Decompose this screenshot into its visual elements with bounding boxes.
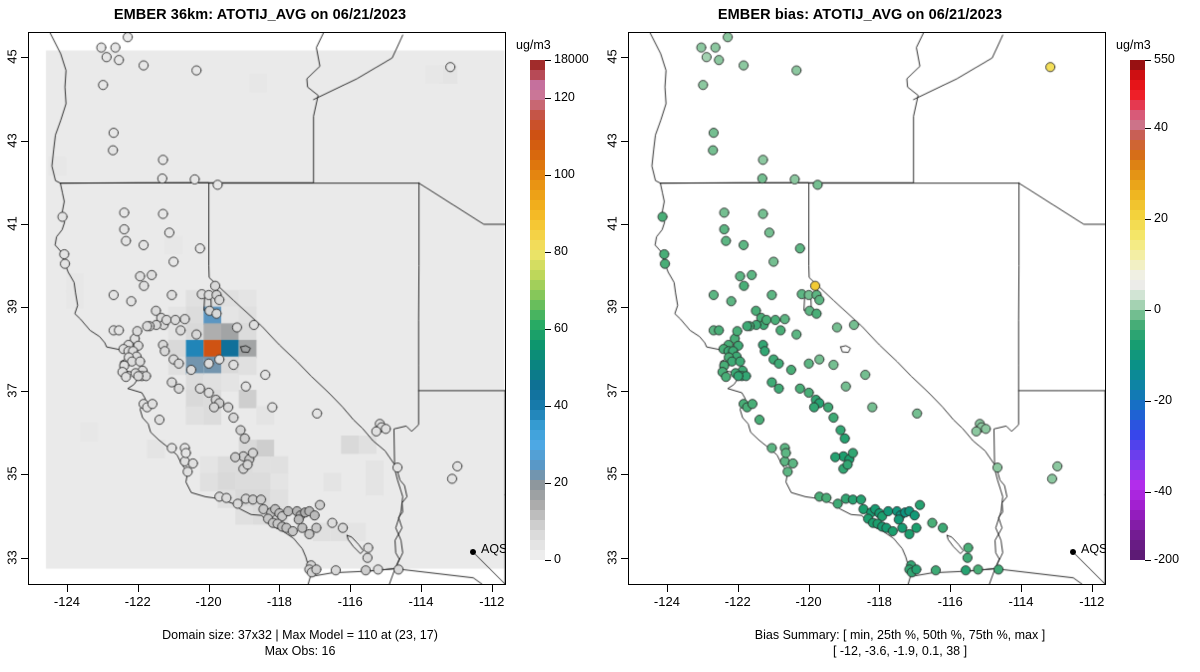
colorbar-segment: [530, 150, 545, 160]
y-tick-label: 37: [605, 380, 620, 400]
colorbar-segment: [1130, 500, 1145, 510]
colorbar-tick-label: 40: [1154, 120, 1168, 134]
colorbar-segment: [1130, 440, 1145, 450]
y-tick-label: 33: [5, 547, 20, 567]
x-tick: [209, 585, 210, 592]
colorbar-segment: [530, 350, 545, 360]
y-tick: [21, 224, 28, 225]
colorbar-segment: [1130, 290, 1145, 300]
x-tick-label: -112: [470, 594, 514, 609]
colorbar-segment: [1130, 230, 1145, 240]
colorbar-segment: [530, 520, 545, 530]
x-tick: [350, 585, 351, 592]
colorbar-segment: [1130, 420, 1145, 430]
x-tick-label: -116: [328, 594, 372, 609]
colorbar-segment: [530, 210, 545, 220]
colorbar-segment: [1130, 240, 1145, 250]
colorbar-segment: [530, 320, 545, 330]
y-tick: [21, 558, 28, 559]
colorbar-segment: [530, 470, 545, 480]
bias-caption-line1: Bias Summary: [ min, 25th %, 50th %, 75t…: [620, 628, 1180, 643]
colorbar-tick: [1145, 310, 1151, 311]
colorbar-gradient[interactable]: [1130, 60, 1145, 560]
colorbar-segment: [1130, 180, 1145, 190]
colorbar-segment: [530, 170, 545, 180]
colorbar-segment: [530, 180, 545, 190]
colorbar-tick: [545, 406, 551, 407]
colorbar-tick-label: 550: [1154, 52, 1175, 66]
colorbar-segment: [530, 510, 545, 520]
colorbar-segment: [530, 110, 545, 120]
colorbar-segment: [1130, 160, 1145, 170]
y-tick: [621, 57, 628, 58]
colorbar-segment: [1130, 540, 1145, 550]
colorbar-segment: [1130, 300, 1145, 310]
y-tick-label: 45: [605, 47, 620, 67]
colorbar-segment: [1130, 520, 1145, 530]
x-tick-label: -114: [399, 594, 443, 609]
x-tick: [138, 585, 139, 592]
x-tick-label: -118: [857, 594, 901, 609]
y-tick-label: 43: [605, 130, 620, 150]
page-title: EMBER 36km: ATOTIJ_AVG on 06/21/2023: [0, 7, 520, 23]
colorbar-segment: [1130, 370, 1145, 380]
panel-bias: EMBER bias: ATOTIJ_AVG on 06/21/2023 AQS…: [600, 0, 1200, 672]
colorbar-segment: [1130, 550, 1145, 560]
colorbar-tick-label: -20: [1154, 393, 1172, 407]
colorbar-segment: [1130, 460, 1145, 470]
x-tick: [667, 585, 668, 592]
colorbar-segment: [1130, 380, 1145, 390]
y-tick: [621, 224, 628, 225]
colorbar-segment: [530, 480, 545, 490]
x-tick: [421, 585, 422, 592]
bias-plot-area[interactable]: AQS: [628, 32, 1106, 585]
colorbar-segment: [1130, 490, 1145, 500]
colorbar-segment: [1130, 430, 1145, 440]
colorbar-segment: [530, 420, 545, 430]
colorbar-segment: [1130, 330, 1145, 340]
y-tick-label: 35: [605, 464, 620, 484]
colorbar-segment: [1130, 200, 1145, 210]
colorbar-tick-label: 60: [554, 321, 568, 335]
colorbar-tick-label: 0: [554, 552, 561, 566]
colorbar-segment: [1130, 120, 1145, 130]
x-tick-label: -120: [787, 594, 831, 609]
colorbar-segment: [1130, 470, 1145, 480]
x-tick: [738, 585, 739, 592]
colorbar-tick-label: 100: [554, 167, 575, 181]
colorbar-tick: [545, 98, 551, 99]
model-colorbar[interactable]: ug/m318000120100806040200: [516, 0, 600, 672]
y-tick-label: 43: [5, 130, 20, 150]
colorbar-segment: [530, 500, 545, 510]
colorbar-segment: [530, 290, 545, 300]
colorbar-segment: [530, 60, 545, 70]
y-tick: [621, 558, 628, 559]
panel-model: EMBER 36km: ATOTIJ_AVG on 06/21/2023 AQS…: [0, 0, 600, 672]
y-tick: [21, 474, 28, 475]
colorbar-tick-label: -200: [1154, 552, 1179, 566]
colorbar-segment: [530, 250, 545, 260]
aqs-legend-dot: [470, 549, 476, 555]
colorbar-tick: [1145, 219, 1151, 220]
y-tick: [21, 391, 28, 392]
colorbar-segment: [530, 70, 545, 80]
bias-map-canvas[interactable]: [629, 33, 1105, 584]
y-tick-label: 45: [5, 47, 20, 67]
y-tick: [21, 141, 28, 142]
colorbar-tick: [1145, 492, 1151, 493]
colorbar-tick: [1145, 128, 1151, 129]
colorbar-segment: [530, 220, 545, 230]
colorbar-segment: [530, 260, 545, 270]
colorbar-segment: [530, 360, 545, 370]
colorbar-tick: [545, 60, 551, 61]
colorbar-segment: [1130, 220, 1145, 230]
colorbar-segment: [530, 380, 545, 390]
colorbar-units-label: ug/m3: [1116, 38, 1151, 52]
colorbar-segment: [1130, 110, 1145, 120]
colorbar-segment: [530, 240, 545, 250]
y-tick-label: 39: [605, 297, 620, 317]
colorbar-segment: [530, 230, 545, 240]
colorbar-segment: [1130, 410, 1145, 420]
colorbar-segment: [530, 460, 545, 470]
colorbar-segment: [1130, 250, 1145, 260]
model-plot-area[interactable]: AQS: [28, 32, 506, 585]
page-title-bias: EMBER bias: ATOTIJ_AVG on 06/21/2023: [600, 7, 1120, 23]
colorbar-segment: [530, 490, 545, 500]
colorbar-segment: [1130, 60, 1145, 70]
aqs-legend-dot-bias: [1070, 549, 1076, 555]
colorbar-segment: [1130, 260, 1145, 270]
x-tick-label: -124: [645, 594, 689, 609]
x-tick: [809, 585, 810, 592]
x-tick-label: -116: [928, 594, 972, 609]
colorbar-segment: [1130, 530, 1145, 540]
colorbar-segment: [530, 330, 545, 340]
colorbar-segment: [530, 200, 545, 210]
y-tick: [621, 474, 628, 475]
colorbar-segment: [1130, 100, 1145, 110]
x-tick: [279, 585, 280, 592]
colorbar-segment: [530, 310, 545, 320]
colorbar-segment: [530, 550, 545, 560]
colorbar-segment: [530, 160, 545, 170]
colorbar-segment: [1130, 190, 1145, 200]
colorbar-segment: [1130, 150, 1145, 160]
colorbar-segment: [530, 430, 545, 440]
x-tick: [879, 585, 880, 592]
x-tick-label: -122: [716, 594, 760, 609]
y-tick-label: 33: [605, 547, 620, 567]
x-tick: [67, 585, 68, 592]
colorbar-segment: [530, 390, 545, 400]
colorbar-tick-label: 0: [1154, 302, 1161, 316]
x-tick: [950, 585, 951, 592]
model-caption-line2: Max Obs: 16: [20, 644, 580, 659]
colorbar-segment: [530, 140, 545, 150]
colorbar-segment: [1130, 510, 1145, 520]
x-tick-label: -124: [45, 594, 89, 609]
colorbar-segment: [530, 100, 545, 110]
colorbar-gradient[interactable]: [530, 60, 545, 560]
aqs-legend-label-bias: AQS: [1081, 542, 1106, 556]
x-tick-label: -114: [999, 594, 1043, 609]
colorbar-tick: [1145, 60, 1151, 61]
y-tick: [21, 307, 28, 308]
y-tick-label: 41: [605, 213, 620, 233]
colorbar-tick-label: 120: [554, 90, 575, 104]
colorbar-tick-label: 20: [1154, 211, 1168, 225]
colorbar-tick: [545, 329, 551, 330]
colorbar-segment: [1130, 400, 1145, 410]
colorbar-units-label: ug/m3: [516, 38, 551, 52]
colorbar-segment: [1130, 140, 1145, 150]
colorbar-tick-label: 80: [554, 244, 568, 258]
colorbar-segment: [530, 190, 545, 200]
colorbar-segment: [1130, 340, 1145, 350]
colorbar-segment: [1130, 320, 1145, 330]
y-tick: [621, 141, 628, 142]
colorbar-tick: [1145, 401, 1151, 402]
x-tick-label: -118: [257, 594, 301, 609]
colorbar-tick: [545, 175, 551, 176]
colorbar-segment: [530, 440, 545, 450]
colorbar-segment: [1130, 450, 1145, 460]
aqs-legend-label: AQS: [481, 542, 506, 556]
colorbar-segment: [1130, 350, 1145, 360]
colorbar-segment: [530, 370, 545, 380]
colorbar-tick-label: 18000: [554, 52, 589, 66]
colorbar-segment: [1130, 70, 1145, 80]
x-tick: [1092, 585, 1093, 592]
colorbar-segment: [1130, 480, 1145, 490]
y-tick: [21, 57, 28, 58]
y-tick: [621, 307, 628, 308]
colorbar-segment: [530, 90, 545, 100]
x-tick-label: -112: [1070, 594, 1114, 609]
x-tick-label: -122: [116, 594, 160, 609]
colorbar-segment: [530, 300, 545, 310]
model-map-canvas[interactable]: [29, 33, 505, 584]
colorbar-segment: [1130, 280, 1145, 290]
colorbar-segment: [1130, 210, 1145, 220]
colorbar-segment: [530, 450, 545, 460]
colorbar-tick: [545, 252, 551, 253]
colorbar-segment: [1130, 390, 1145, 400]
colorbar-segment: [1130, 310, 1145, 320]
colorbar-tick: [545, 483, 551, 484]
colorbar-segment: [1130, 170, 1145, 180]
colorbar-segment: [1130, 270, 1145, 280]
colorbar-segment: [530, 340, 545, 350]
colorbar-segment: [1130, 80, 1145, 90]
colorbar-tick-label: -40: [1154, 484, 1172, 498]
colorbar-tick: [545, 560, 551, 561]
colorbar-segment: [530, 410, 545, 420]
colorbar-segment: [530, 280, 545, 290]
colorbar-tick-label: 20: [554, 475, 568, 489]
x-tick: [1021, 585, 1022, 592]
bias-caption-line2: [ -12, -3.6, -1.9, 0.1, 38 ]: [620, 644, 1180, 659]
y-tick-label: 37: [5, 380, 20, 400]
colorbar-segment: [1130, 90, 1145, 100]
colorbar-segment: [530, 80, 545, 90]
colorbar-tick-label: 40: [554, 398, 568, 412]
y-tick-label: 35: [5, 464, 20, 484]
colorbar-segment: [530, 400, 545, 410]
x-tick: [492, 585, 493, 592]
colorbar-segment: [530, 540, 545, 550]
model-caption-line1: Domain size: 37x32 | Max Model = 110 at …: [20, 628, 580, 643]
colorbar-segment: [1130, 360, 1145, 370]
colorbar-tick: [1145, 560, 1151, 561]
colorbar-segment: [530, 120, 545, 130]
colorbar-segment: [530, 130, 545, 140]
bias-colorbar[interactable]: ug/m355040200-20-40-200: [1116, 0, 1200, 672]
x-tick-label: -120: [187, 594, 231, 609]
colorbar-segment: [530, 530, 545, 540]
colorbar-segment: [530, 270, 545, 280]
y-tick-label: 39: [5, 297, 20, 317]
y-tick: [621, 391, 628, 392]
colorbar-segment: [1130, 130, 1145, 140]
y-tick-label: 41: [5, 213, 20, 233]
